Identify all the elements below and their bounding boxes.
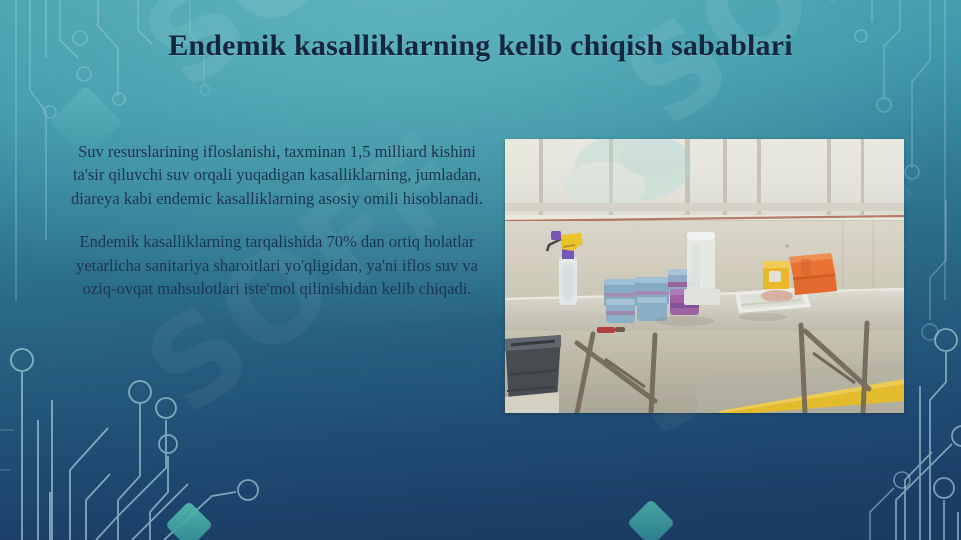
slide-body-text: Suv resurslarining ifloslanishi, taxmina…: [62, 140, 492, 301]
slide-title: Endemik kasalliklarning kelib chiqish sa…: [0, 29, 961, 63]
watermark-text: SOFF: [600, 0, 961, 154]
body-paragraph: Endemik kasalliklarning tarqalishida 70%…: [62, 230, 492, 300]
canteen-counter-photo: [505, 139, 904, 413]
diamond-accent-icon: [627, 499, 675, 540]
slide-canvas: SOFF SOFF SOFF SOFF: [0, 0, 961, 540]
diamond-accent-icon: [165, 501, 213, 540]
body-paragraph: Suv resurslarining ifloslanishi, taxmina…: [62, 140, 492, 210]
